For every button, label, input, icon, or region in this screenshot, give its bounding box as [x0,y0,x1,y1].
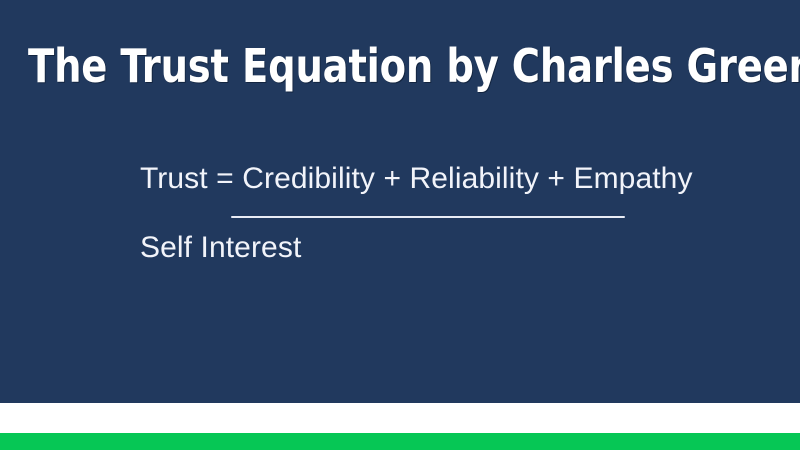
slide-background: The Trust Equation by Charles Green Trus… [0,0,800,403]
slide: The Trust Equation by Charles Green Trus… [0,0,800,450]
equation-denominator: Self Interest [140,229,760,267]
page-title: The Trust Equation by Charles Green [28,40,772,92]
fraction-bar-divider [231,216,625,218]
trust-equation: Trust = Credibility + Reliability + Empa… [140,160,760,267]
equation-numerator: Trust = Credibility + Reliability + Empa… [140,160,760,198]
footer-band-accent [0,433,800,450]
footer-band-white [0,403,800,433]
fraction-wrapper [140,216,760,218]
